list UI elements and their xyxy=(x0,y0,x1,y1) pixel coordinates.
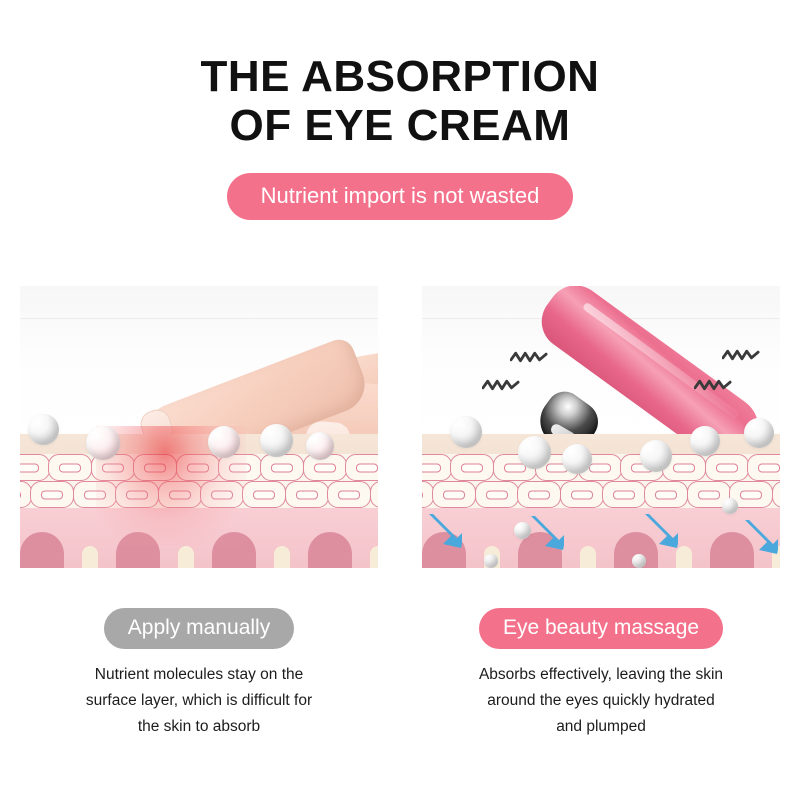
caption-line: the skin to absorb xyxy=(32,714,366,740)
skin-cell xyxy=(370,481,378,508)
epidermis-layer xyxy=(20,454,378,510)
vibration-mark-icon xyxy=(694,378,732,392)
epidermis-cell-row-2 xyxy=(20,481,378,509)
caption-badge-eye-beauty-massage: Eye beauty massage xyxy=(479,608,723,649)
skin-cell xyxy=(20,454,50,481)
papilla xyxy=(116,532,160,568)
skin-cell xyxy=(285,481,329,508)
page-title-line-2: OF EYE CREAM xyxy=(0,101,800,150)
skin-cell xyxy=(48,454,92,481)
dermal-papillae xyxy=(20,532,378,568)
skin-cell xyxy=(133,454,177,481)
papilla xyxy=(308,532,352,568)
papilla-small xyxy=(274,546,290,568)
epidermis-cell-row-1 xyxy=(422,454,780,482)
caption-line: and plumped xyxy=(434,714,768,740)
caption-column-apply-manually: Apply manually Nutrient molecules stay o… xyxy=(20,608,378,739)
nutrient-pearl xyxy=(562,444,592,474)
header: THE ABSORPTION OF EYE CREAM Nutrient imp… xyxy=(0,52,800,220)
skin-cell xyxy=(30,481,74,508)
nutrient-pearl xyxy=(484,554,498,568)
vibration-mark-icon xyxy=(510,350,548,364)
nutrient-pearl xyxy=(722,498,738,514)
skin-cell xyxy=(517,481,561,508)
papilla xyxy=(20,532,64,568)
skin-cell xyxy=(242,481,286,508)
papilla-small xyxy=(370,546,378,568)
caption-line: around the eyes quickly hydrated xyxy=(434,688,768,714)
caption-body-apply-manually: Nutrient molecules stay on the surface l… xyxy=(20,662,378,739)
papilla-small xyxy=(676,546,692,568)
skin-cell xyxy=(218,454,262,481)
papilla-small xyxy=(82,546,98,568)
caption-line: surface layer, which is difficult for xyxy=(32,688,366,714)
dermal-papillae xyxy=(422,532,780,568)
skin-cell xyxy=(747,454,780,481)
absorption-arrow-icon xyxy=(530,514,564,550)
nutrient-pearl xyxy=(450,416,482,448)
absorption-arrow-icon xyxy=(644,512,678,548)
skin-cell xyxy=(705,454,749,481)
nutrient-pearl xyxy=(86,426,120,460)
papilla-small xyxy=(178,546,194,568)
skin-cell xyxy=(176,454,220,481)
papilla-small xyxy=(580,546,596,568)
caption-column-eye-beauty-massage: Eye beauty massage Absorbs effectively, … xyxy=(422,608,780,739)
skin-cell xyxy=(772,481,780,508)
nutrient-pearl xyxy=(514,522,531,539)
panel-eye-beauty-massage xyxy=(422,286,780,568)
page-title-line-1: THE ABSORPTION xyxy=(0,52,800,101)
skin-cell xyxy=(200,481,244,508)
skin-cell xyxy=(115,481,159,508)
skin-cell xyxy=(560,481,604,508)
air-divider-line xyxy=(20,318,378,319)
skin-cell xyxy=(432,481,476,508)
skin-cell xyxy=(644,481,688,508)
nutrient-pearl xyxy=(306,432,334,460)
skin-cell xyxy=(73,481,117,508)
absorption-arrow-icon xyxy=(428,512,462,548)
skin-cell xyxy=(602,481,646,508)
nutrient-pearl xyxy=(28,414,59,445)
nutrient-pearl xyxy=(632,554,646,568)
captions-row: Apply manually Nutrient molecules stay o… xyxy=(20,608,780,739)
skin-cell xyxy=(475,481,519,508)
infographic-page: THE ABSORPTION OF EYE CREAM Nutrient imp… xyxy=(0,0,800,800)
papilla xyxy=(212,532,256,568)
skin-cell xyxy=(327,481,371,508)
nutrient-pearl xyxy=(744,418,774,448)
skin-cell xyxy=(158,481,202,508)
skin-cell xyxy=(345,454,378,481)
dermis-layer xyxy=(20,508,378,568)
caption-line: Absorbs effectively, leaving the skin xyxy=(434,662,768,688)
nutrient-pearl xyxy=(690,426,720,456)
nutrient-pearl xyxy=(640,440,672,472)
panel-apply-manually xyxy=(20,286,378,568)
skin-cell xyxy=(422,454,452,481)
vibration-mark-icon xyxy=(482,378,520,392)
caption-line: Nutrient molecules stay on the xyxy=(32,662,366,688)
skin-cell xyxy=(450,454,494,481)
subtitle-badge: Nutrient import is not wasted xyxy=(227,173,574,221)
vibration-mark-icon xyxy=(722,348,760,362)
dermis-layer xyxy=(422,508,780,568)
caption-body-eye-beauty-massage: Absorbs effectively, leaving the skin ar… xyxy=(422,662,780,739)
skin-cell xyxy=(260,454,304,481)
nutrient-pearl xyxy=(518,436,551,469)
nutrient-pearl xyxy=(208,426,240,458)
absorption-arrow-icon xyxy=(744,518,778,554)
nutrient-pearl xyxy=(260,424,293,457)
caption-badge-apply-manually: Apply manually xyxy=(104,608,294,649)
illustration-panels xyxy=(20,286,780,568)
